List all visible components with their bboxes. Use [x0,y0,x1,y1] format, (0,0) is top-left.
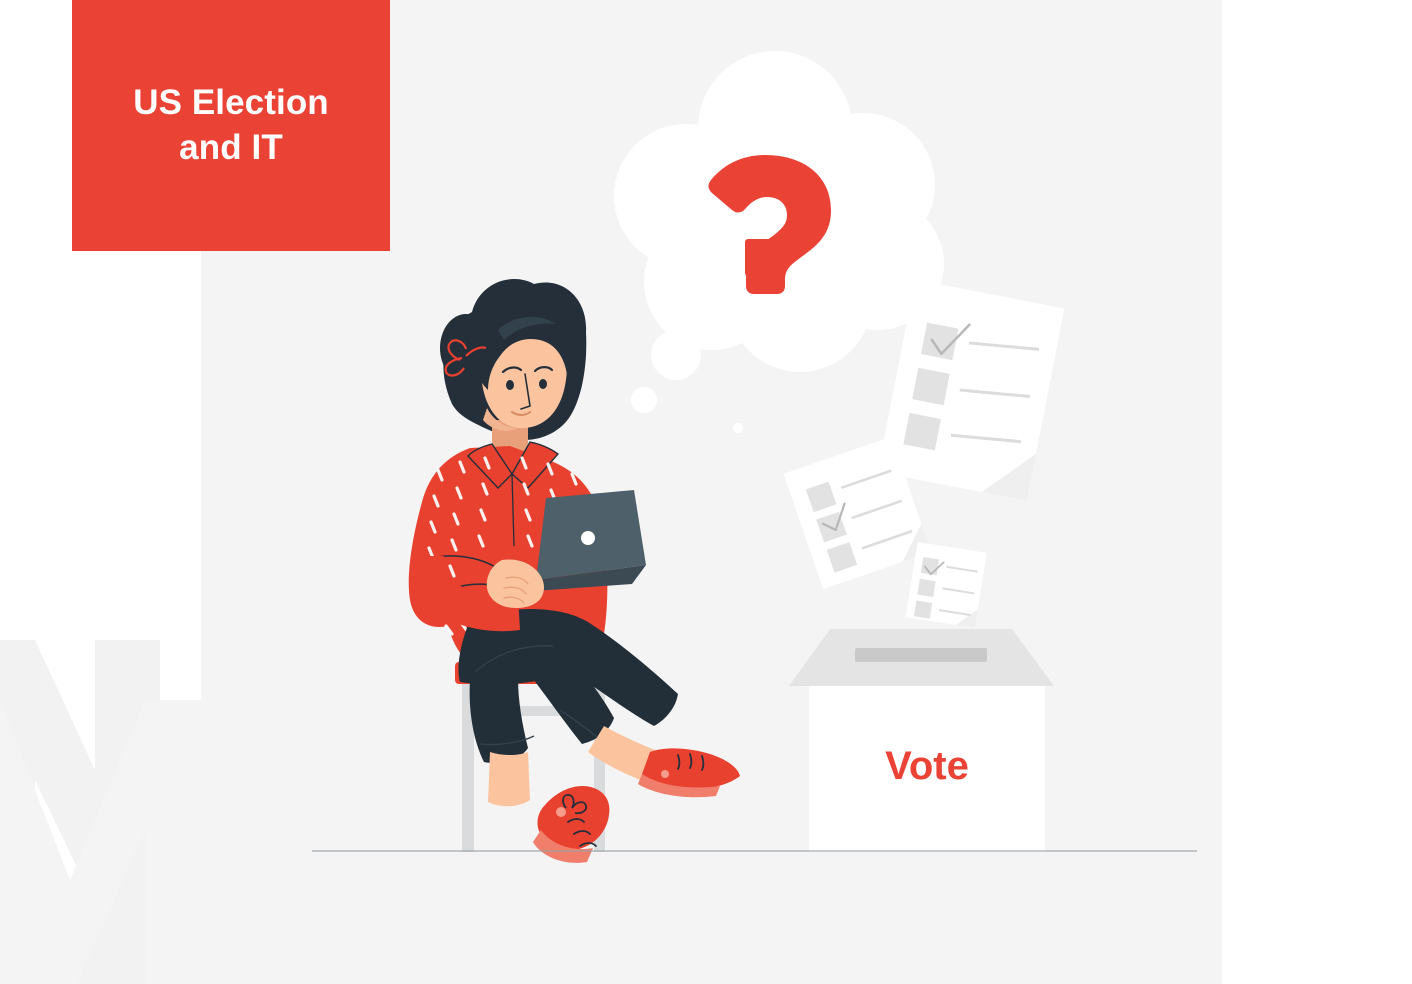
ballot-box-label: Vote [885,744,969,788]
title-banner: US Election and IT [72,0,390,251]
ballot-box-slot [855,648,987,662]
shin-lower [488,752,530,806]
eye-left [506,380,514,390]
banner-title: US Election and IT [96,81,366,171]
thought-bubble-dot-medium [631,387,657,413]
ballot-paper-small [906,542,987,628]
ballot-box: Vote [789,629,1054,852]
eye-right [539,379,547,389]
laptop-logo-dot [581,531,595,545]
thought-bubble-dot-small [733,423,743,433]
